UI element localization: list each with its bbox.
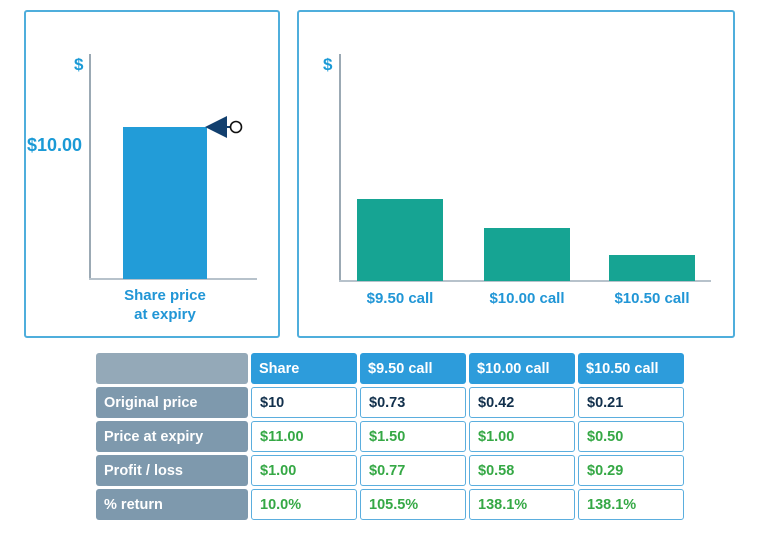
- table-row: Price at expiry $11.00 $1.50 $1.00 $0.50: [96, 421, 684, 452]
- table-header-row: Share $9.50 call $10.00 call $10.50 call: [96, 353, 684, 384]
- cell-original-price-call-10-50: $0.21: [578, 387, 684, 418]
- price-level-pointer-icon: [203, 113, 245, 141]
- cell-price-at-expiry-call-10-50: $0.50: [578, 421, 684, 452]
- cell-percent-return-share: 10.0%: [251, 489, 357, 520]
- cell-percent-return-call-10-00: 138.1%: [469, 489, 575, 520]
- row-label-percent-return: % return: [96, 489, 248, 520]
- cell-percent-return-call-10-50: 138.1%: [578, 489, 684, 520]
- cell-original-price-call-9-50: $0.73: [360, 387, 466, 418]
- table-column-header-call-10-50: $10.50 call: [578, 353, 684, 384]
- table-row: Original price $10 $0.73 $0.42 $0.21: [96, 387, 684, 418]
- left-chart-category-label: Share price at expiry: [85, 287, 245, 325]
- cell-price-at-expiry-call-9-50: $1.50: [360, 421, 466, 452]
- row-label-original-price: Original price: [96, 387, 248, 418]
- row-label-price-at-expiry: Price at expiry: [96, 421, 248, 452]
- cell-price-at-expiry-share: $11.00: [251, 421, 357, 452]
- share-price-bar: [123, 127, 207, 279]
- table-column-header-call-10-00: $10.00 call: [469, 353, 575, 384]
- right-chart-category-1: $10.00 call: [467, 290, 587, 307]
- right-chart-category-0: $9.50 call: [340, 290, 460, 307]
- table-row: Profit / loss $1.00 $0.77 $0.58 $0.29: [96, 455, 684, 486]
- left-chart-y-tick-10: $10.00: [0, 136, 82, 154]
- table-column-header-call-9-50: $9.50 call: [360, 353, 466, 384]
- call-options-chart-panel: $ $9.50 call $10.00 call $10.50 call: [297, 10, 735, 338]
- call-bar-9-50: [357, 199, 443, 281]
- cell-profit-loss-call-10-50: $0.29: [578, 455, 684, 486]
- call-bar-10-00: [484, 228, 570, 281]
- table-corner-cell: [96, 353, 248, 384]
- cell-original-price-share: $10: [251, 387, 357, 418]
- right-chart-category-2: $10.50 call: [592, 290, 712, 307]
- left-chart-y-axis: [89, 54, 91, 280]
- row-label-profit-loss: Profit / loss: [96, 455, 248, 486]
- right-chart-y-axis-label: $: [323, 56, 332, 73]
- table-row: % return 10.0% 105.5% 138.1% 138.1%: [96, 489, 684, 520]
- cell-original-price-call-10-00: $0.42: [469, 387, 575, 418]
- left-chart-category-line2: at expiry: [134, 306, 196, 323]
- left-chart-y-axis-label: $: [74, 56, 83, 73]
- right-chart-y-axis: [339, 54, 341, 282]
- call-bar-10-50: [609, 255, 695, 281]
- share-price-chart-panel: $ $10.00 Share price at expiry: [24, 10, 280, 338]
- cell-profit-loss-call-9-50: $0.77: [360, 455, 466, 486]
- cell-price-at-expiry-call-10-00: $1.00: [469, 421, 575, 452]
- table-column-header-share: Share: [251, 353, 357, 384]
- option-comparison-table: Share $9.50 call $10.00 call $10.50 call…: [93, 350, 687, 523]
- cell-profit-loss-call-10-00: $0.58: [469, 455, 575, 486]
- cell-profit-loss-share: $1.00: [251, 455, 357, 486]
- left-chart-category-line1: Share price: [124, 287, 206, 304]
- cell-percent-return-call-9-50: 105.5%: [360, 489, 466, 520]
